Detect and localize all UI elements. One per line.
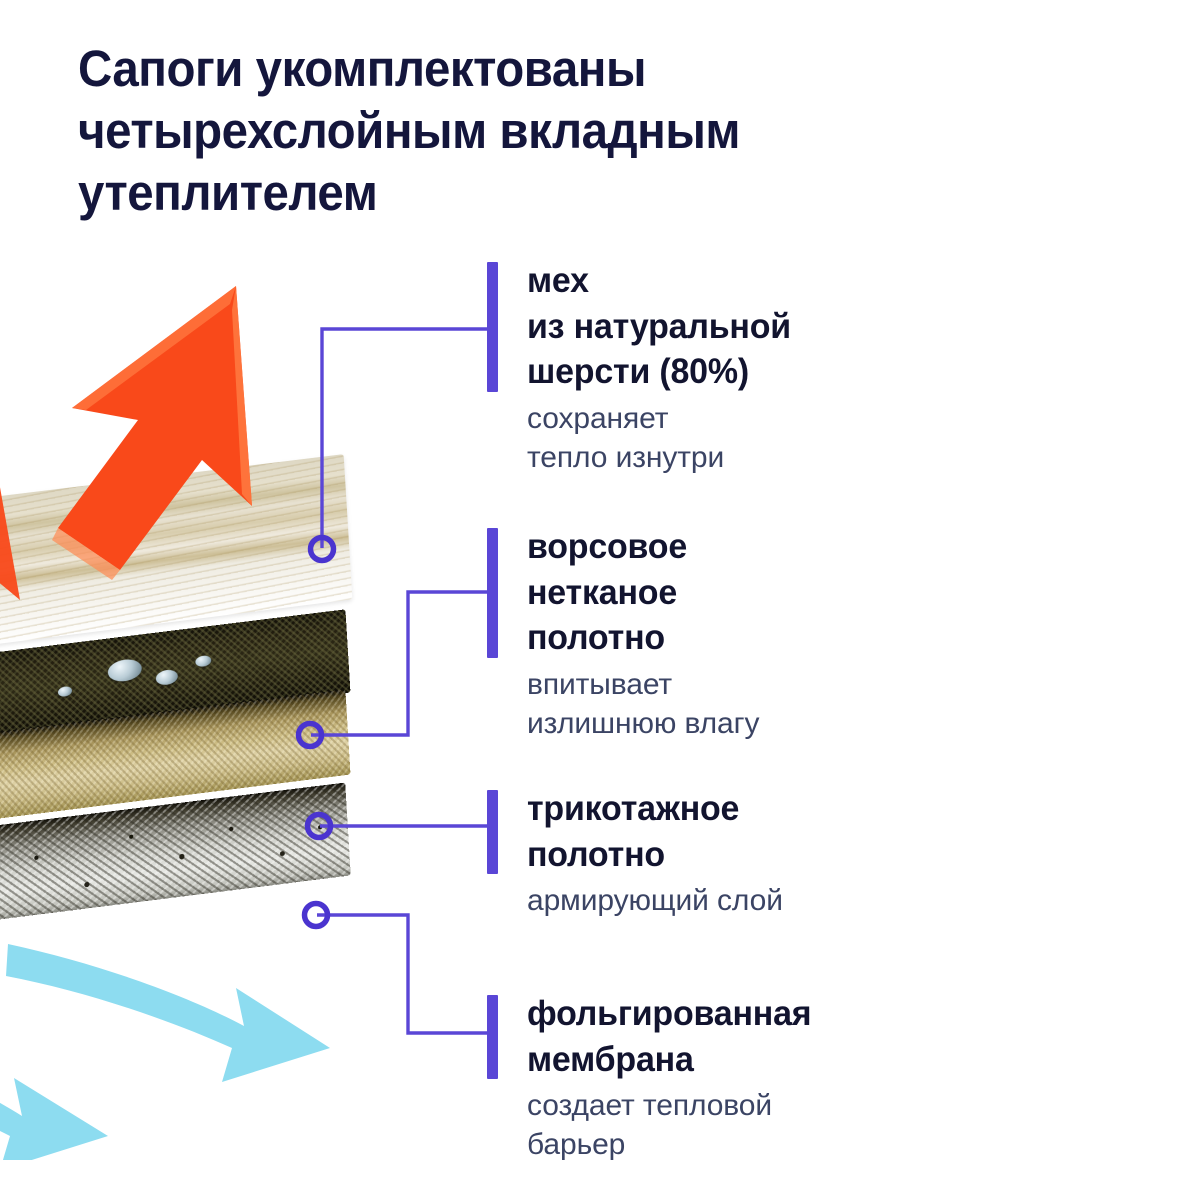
label-title-nonwoven: ворсовое нетканое полотно (527, 524, 944, 661)
label-text-nonwoven: ворсовое нетканое полотно впитывает изли… (527, 524, 957, 743)
label-title-membrane: фольгированная мембрана (527, 991, 944, 1082)
label-title-fur-line-2: из натуральной (527, 304, 944, 350)
label-sub-fur-line-1: сохраняет (527, 399, 957, 438)
label-title-fur-line-1: мех (527, 258, 944, 304)
label-sub-knit: армирующий слой (527, 881, 957, 920)
label-text-fur: мех из натуральной шерсти (80%) сохраняе… (527, 258, 957, 477)
label-text-knit: трикотажное полотно армирующий слой (527, 786, 957, 920)
accent-bar-nonwoven (487, 528, 498, 658)
label-title-knit-line-2: полотно (527, 832, 944, 878)
label-text-membrane: фольгированная мембрана создает тепловой… (527, 991, 957, 1164)
moisture-release-arrows-icon (0, 930, 410, 1160)
label-sub-nonwoven-line-2: излишнюю влагу (527, 704, 957, 743)
label-sub-nonwoven-line-1: впитывает (527, 665, 957, 704)
page-title-line-3: утеплителем (78, 162, 841, 224)
label-title-fur: мех из натуральной шерсти (80%) (527, 258, 944, 395)
page-title: Сапоги укомплектованы четырехслойным вкл… (78, 38, 841, 225)
accent-bar-knit (487, 790, 498, 874)
accent-bar-membrane (487, 995, 498, 1079)
label-title-knit: трикотажное полотно (527, 786, 944, 877)
page-title-line-2: четырехслойным вкладным (78, 100, 841, 162)
label-sub-fur: сохраняет тепло изнутри (527, 399, 957, 477)
accent-bar-fur (487, 262, 498, 392)
page-title-line-1: Сапоги укомплектованы (78, 38, 841, 100)
label-title-nonwoven-line-3: полотно (527, 615, 944, 661)
label-title-knit-line-1: трикотажное (527, 786, 944, 832)
label-sub-membrane-line-1: создает тепловой (527, 1086, 957, 1125)
label-sub-membrane: создает тепловой барьер (527, 1086, 957, 1164)
label-sub-membrane-line-2: барьер (527, 1125, 957, 1164)
label-sub-fur-line-2: тепло изнутри (527, 438, 957, 477)
label-title-nonwoven-line-1: ворсовое (527, 524, 944, 570)
label-sub-nonwoven: впитывает излишнюю влагу (527, 665, 957, 743)
label-title-nonwoven-line-2: нетканое (527, 570, 944, 616)
heat-arrow-icon (0, 270, 300, 610)
infographic-canvas: Сапоги укомплектованы четырехслойным вкл… (0, 0, 1200, 1200)
label-title-fur-line-3: шерсти (80%) (527, 349, 944, 395)
label-title-membrane-line-2: мембрана (527, 1037, 944, 1083)
label-title-membrane-line-1: фольгированная (527, 991, 944, 1037)
label-sub-knit-line-1: армирующий слой (527, 881, 957, 920)
